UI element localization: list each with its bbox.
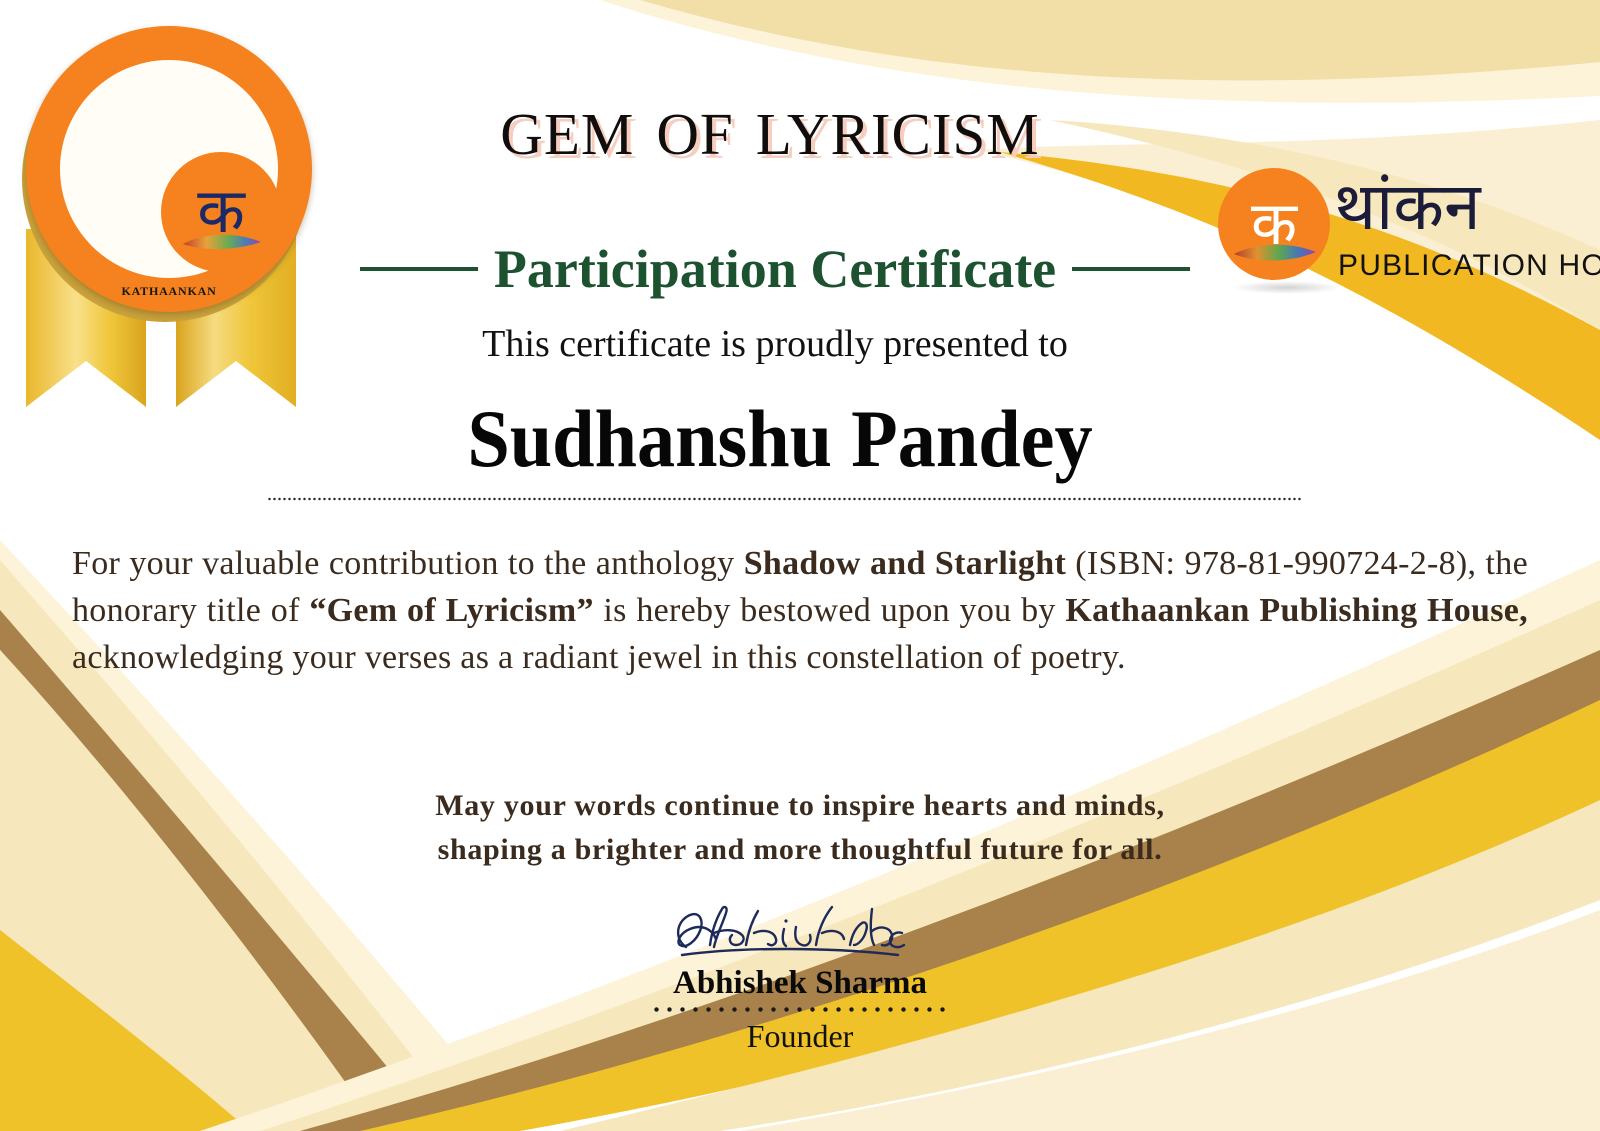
certificate-page: क Kathaankan क — [0, 0, 1600, 1131]
recipient-name-underline — [267, 497, 1302, 501]
honorary-title: “Gem of Lyricism” — [309, 592, 593, 629]
certificate-subtitle: Participation Certificate — [494, 238, 1056, 300]
citation-paragraph: For your valuable contribution to the an… — [72, 540, 1528, 681]
publisher-monogram-icon: क — [1218, 168, 1330, 280]
seal-inner-face: क Kathaankan — [60, 60, 278, 278]
presented-to-line: This certificate is proudly presented to — [330, 322, 1220, 366]
deco-top-right-cream — [640, 0, 1600, 80]
closing-line-1: May your words continue to inspire heart… — [300, 784, 1300, 828]
citation-segment-1: For your valuable contribution to the an… — [72, 545, 744, 582]
publisher-subtitle: PUBLICATION HOUSE — [1338, 249, 1600, 283]
kathaankan-monogram-icon: क — [161, 152, 281, 272]
subtitle-rule-right — [1072, 267, 1190, 271]
award-seal: क Kathaankan — [8, 14, 328, 434]
signer-role: Founder — [620, 1018, 980, 1055]
recipient-name: Sudhanshu Pandey — [315, 392, 1245, 486]
citation-segment-4: acknowledging your verses as a radiant j… — [72, 639, 1126, 676]
seal-brand-label: Kathaankan — [60, 280, 278, 300]
publisher-logo-shadow — [1232, 281, 1342, 294]
deco-left-cream-2 — [0, 650, 380, 1131]
anthology-title: Shadow and Starlight — [744, 545, 1066, 582]
citation-segment-3: is hereby bestowed upon you by — [594, 592, 1066, 629]
signature-block: Abhishek Sharma Founder — [620, 895, 980, 1055]
deco-left-gold — [0, 930, 250, 1131]
signer-name-underline — [650, 1007, 950, 1012]
svg-text:थांकन: थांकन — [1334, 168, 1482, 245]
certificate-title: Gem of Lyricism — [330, 85, 1210, 169]
publisher-logo: क थांकन PUBLICATION HOUSE — [1218, 163, 1588, 298]
deco-bottom-right-gold — [360, 700, 1600, 1131]
certificate-subtitle-row: Participation Certificate — [330, 238, 1220, 300]
handwritten-signature-icon — [650, 895, 950, 963]
publisher-monogram-circle: क — [1218, 168, 1330, 280]
closing-line-2: shaping a brighter and more thoughtful f… — [300, 828, 1300, 872]
closing-message: May your words continue to inspire heart… — [300, 784, 1300, 872]
publisher-script-name-icon: थांकन — [1334, 161, 1594, 253]
subtitle-rule-left — [360, 267, 478, 271]
deco-bottom-right-tan — [300, 650, 1600, 1131]
seal-monogram-circle: क — [161, 152, 281, 272]
signer-name: Abhishek Sharma — [620, 965, 980, 1002]
publisher-name: Kathaankan Publishing House, — [1065, 592, 1528, 629]
